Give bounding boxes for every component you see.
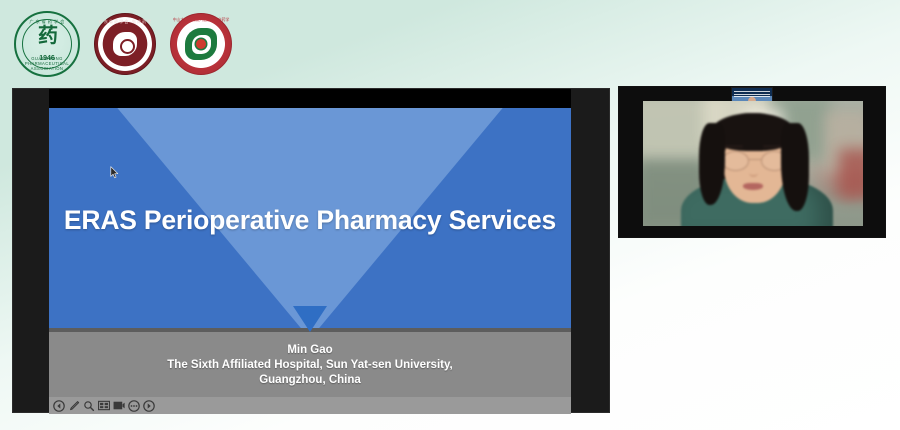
glasses-bridge (749, 159, 761, 160)
slide-affiliation-line-2: Guangzhou, China (259, 373, 361, 388)
speaker-eyebrow (763, 145, 783, 148)
logo-center-glyph: 药 (16, 26, 78, 46)
logo-arc-top-text: 中山大学附属第六医院 · 临床药学 (171, 18, 231, 23)
presenter-toolbar[interactable] (49, 397, 571, 414)
sixth-affiliated-hospital-logo: 中山大学附属第六医院 · 临床药学 (170, 13, 232, 75)
association-logo-red: 广 东 省 药 学 会 · 临 床 药 学 (94, 13, 156, 75)
slide-grid-icon[interactable] (98, 400, 110, 412)
slide-footer: Min Gao The Sixth Affiliated Hospital, S… (49, 328, 571, 398)
speaker-glasses (722, 151, 788, 171)
speaker-video-panel[interactable] (618, 86, 886, 238)
logo-bar: 广 东 省 药 学 会 药 1946 GUANGDONG PHARMACEUTI… (0, 0, 900, 88)
shared-screen-region[interactable]: ERAS Perioperative Pharmacy Services Min… (12, 88, 610, 413)
logo-arc-bottom-text: GUANGDONG PHARMACEUTICAL ASSOCIATION (16, 56, 78, 71)
speaker-hair-right (781, 123, 809, 211)
meeting-window: 广 东 省 药 学 会 药 1946 GUANGDONG PHARMACEUTI… (0, 0, 900, 430)
speaker-video-feed[interactable] (643, 101, 863, 226)
slide-presenter-name: Min Gao (287, 343, 332, 358)
previous-slide-icon[interactable] (53, 400, 65, 412)
next-slide-icon[interactable] (143, 400, 155, 412)
slide-affiliation-line-1: The Sixth Affiliated Hospital, Sun Yat-s… (167, 358, 452, 373)
presentation-slide[interactable]: ERAS Perioperative Pharmacy Services Min… (49, 108, 571, 398)
speaker-eyebrow (723, 145, 743, 148)
slide-stage[interactable]: ERAS Perioperative Pharmacy Services Min… (49, 89, 571, 414)
guangdong-pharmaceutical-association-logo: 广 东 省 药 学 会 药 1946 GUANGDONG PHARMACEUTI… (14, 11, 80, 77)
logo-arc-top-text: 广 东 省 药 学 会 · 临 床 药 学 (95, 19, 155, 25)
more-options-icon[interactable] (128, 400, 140, 412)
speaker-portrait (643, 101, 863, 226)
speaker-nose (749, 169, 758, 177)
speaker-mouth (743, 183, 763, 190)
thumbnail-text-line (734, 91, 770, 92)
blackout-screen-icon[interactable] (113, 400, 125, 412)
slide-arrow-tip-graphic (293, 306, 327, 332)
slide-title: ERAS Perioperative Pharmacy Services (49, 205, 571, 236)
magnifier-icon[interactable] (83, 400, 95, 412)
logo-center-emblem (113, 32, 137, 56)
thumbnail-text-line (734, 94, 770, 95)
logo-core-dot (196, 39, 206, 49)
glasses-lens (722, 151, 749, 171)
pen-icon[interactable] (68, 400, 80, 412)
mouse-cursor (110, 166, 119, 179)
